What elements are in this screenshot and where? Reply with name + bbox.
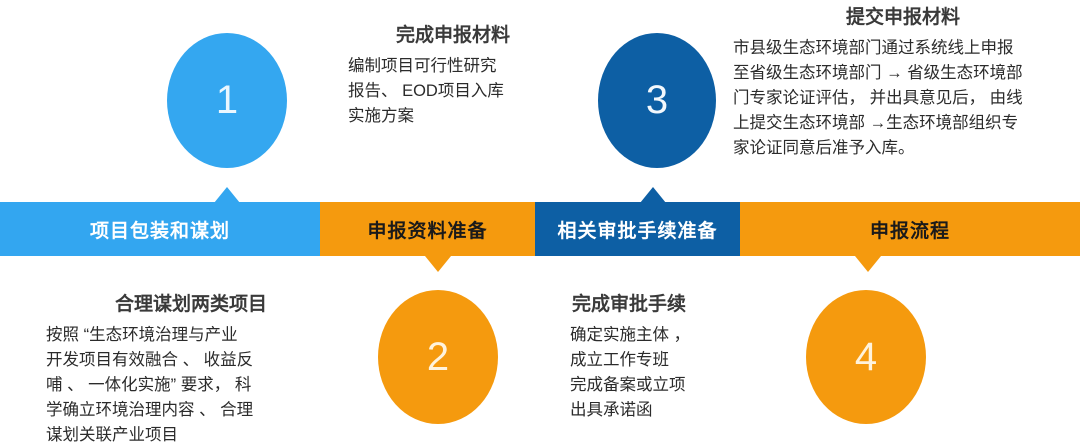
step2-body-line: 开发项目有效融合 、 收益反	[46, 348, 336, 373]
step-circle-2: 2	[378, 290, 498, 424]
step3-body-line: 至省级生态环境部门 → 省级生态环境部	[733, 61, 1073, 86]
step2-body-line: 按照 “生态环境治理与产业	[46, 323, 336, 348]
step3-body-line: 市县级生态环境部门通过系统线上申报	[733, 36, 1073, 61]
timeline-segment-3-label: 相关审批手续准备	[557, 216, 717, 243]
step2-body-line: 哺 、 一体化实施” 要求， 科	[46, 373, 336, 398]
step-circle-1-number: 1	[216, 78, 238, 123]
pointer-down-step4	[855, 256, 881, 272]
pointer-up-step1	[214, 187, 240, 203]
infographic-canvas: 完成申报材料 编制项目可行性研究 报告、 EOD项目入库 实施方案 提交申报材料…	[0, 0, 1080, 444]
timeline-segment-1-label: 项目包装和谋划	[90, 216, 230, 243]
step1-body-line: 编制项目可行性研究	[348, 54, 558, 79]
step4-body-line: 出具承诺函	[570, 398, 770, 423]
step3-body: 市县级生态环境部门通过系统线上申报 至省级生态环境部门 → 省级生态环境部 门专…	[733, 36, 1073, 161]
step4-body-line: 成立工作专班	[570, 348, 770, 373]
step3-title: 提交申报材料	[733, 6, 1073, 30]
timeline-bar: 项目包装和谋划 申报资料准备 相关审批手续准备 申报流程	[0, 202, 1080, 256]
step2-body-line: 谋划关联产业项目	[46, 423, 336, 444]
step3-body-line: 上提交生态环境部 →生态环境部组织专	[733, 111, 1073, 136]
step4-body: 确定实施主体 ， 成立工作专班 完成备案或立项 出具承诺函	[570, 323, 770, 423]
step-circle-3: 3	[598, 33, 716, 168]
step1-body-line: 报告、 EOD项目入库	[348, 79, 558, 104]
timeline-segment-2[interactable]: 申报资料准备	[320, 202, 535, 256]
step3-body-line: 门专家论证评估， 并出具意见后， 由线	[733, 86, 1073, 111]
timeline-segment-2-label: 申报资料准备	[367, 216, 487, 243]
step4-text-block: 完成审批手续 确定实施主体 ， 成立工作专班 完成备案或立项 出具承诺函	[570, 293, 770, 423]
timeline-segment-3[interactable]: 相关审批手续准备	[535, 202, 740, 256]
step4-title: 完成审批手续	[570, 293, 770, 317]
step1-text-block: 完成申报材料 编制项目可行性研究 报告、 EOD项目入库 实施方案	[348, 24, 558, 129]
step-circle-4-number: 4	[855, 335, 877, 380]
step4-body-line: 完成备案或立项	[570, 373, 770, 398]
timeline-segment-1[interactable]: 项目包装和谋划	[0, 202, 320, 256]
step-circle-3-number: 3	[646, 78, 668, 123]
step3-text-block: 提交申报材料 市县级生态环境部门通过系统线上申报 至省级生态环境部门 → 省级生…	[733, 6, 1073, 161]
step-circle-4: 4	[806, 290, 926, 424]
step4-body-line: 确定实施主体 ，	[570, 323, 770, 348]
step1-body-line: 实施方案	[348, 104, 558, 129]
timeline-segment-4[interactable]: 申报流程	[740, 202, 1080, 256]
step2-title: 合理谋划两类项目	[46, 293, 336, 317]
step2-body: 按照 “生态环境治理与产业 开发项目有效融合 、 收益反 哺 、 一体化实施” …	[46, 323, 336, 444]
pointer-down-step2	[425, 256, 451, 272]
timeline-segment-4-label: 申报流程	[870, 216, 950, 243]
pointer-up-step3	[640, 187, 666, 203]
step2-text-block: 合理谋划两类项目 按照 “生态环境治理与产业 开发项目有效融合 、 收益反 哺 …	[46, 293, 336, 444]
step3-body-line: 家论证同意后准予入库。	[733, 136, 1073, 161]
step-circle-1: 1	[167, 33, 287, 168]
step2-body-line: 学确立环境治理内容 、 合理	[46, 398, 336, 423]
step-circle-2-number: 2	[427, 335, 449, 380]
step1-title: 完成申报材料	[348, 24, 558, 48]
step1-body: 编制项目可行性研究 报告、 EOD项目入库 实施方案	[348, 54, 558, 129]
